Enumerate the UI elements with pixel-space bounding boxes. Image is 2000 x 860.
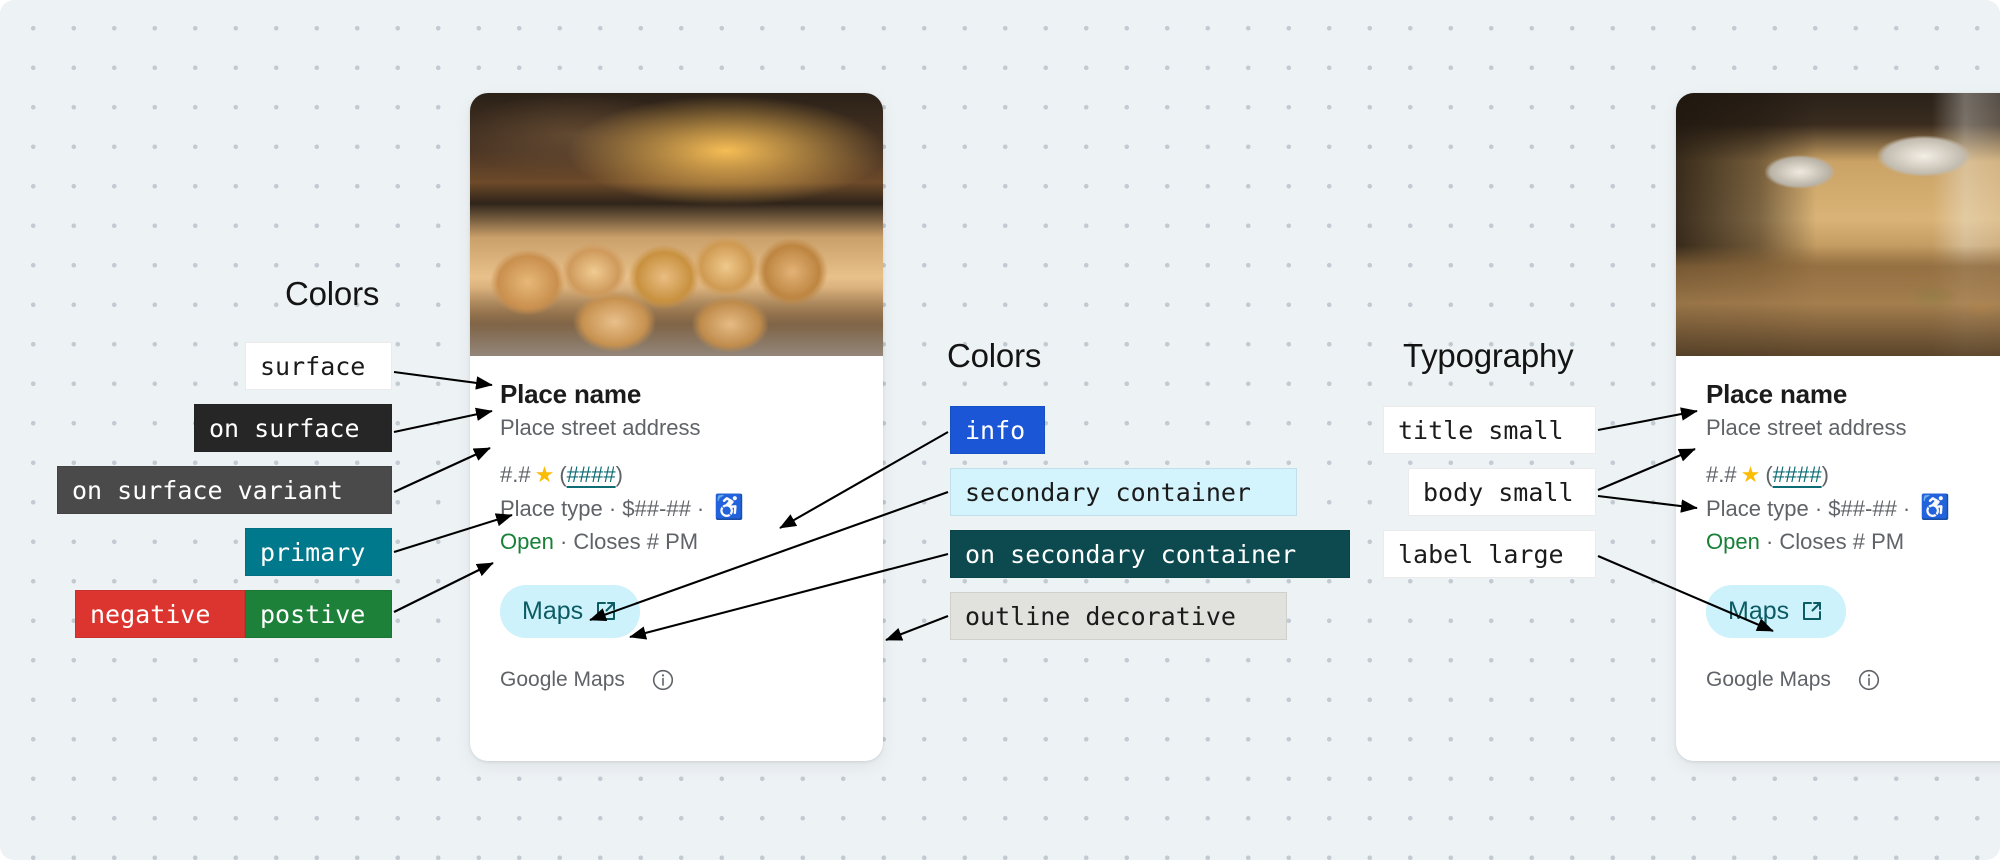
place-rating-row: #.# ★ (####)	[1706, 459, 2000, 491]
dot-separator: ·	[691, 493, 711, 525]
price-range: $##-##	[622, 493, 691, 525]
rating-value: #.#	[1706, 459, 1737, 491]
wheelchair-accessible-icon: ♿	[714, 491, 744, 526]
color-chip-on-surface-variant[interactable]: on surface variant	[57, 466, 392, 514]
footer-attribution: Google Maps	[1706, 668, 1831, 692]
color-chip-on-surface[interactable]: on surface	[194, 404, 392, 452]
design-spec-canvas: Colors Colors Typography surface on surf…	[0, 0, 2000, 860]
heading-colors-left: Colors	[285, 275, 379, 313]
star-icon: ★	[1741, 459, 1761, 491]
color-chip-label: info	[965, 418, 1025, 443]
color-chip-primary[interactable]: primary	[245, 528, 392, 576]
place-hours-row: Open · Closes # PM	[1706, 526, 2000, 558]
color-chip-info[interactable]: info	[950, 406, 1045, 454]
arrow-outline-decorative	[886, 616, 948, 640]
closing-time: Closes # PM	[1779, 526, 1904, 558]
color-chip-label: surface	[260, 354, 365, 379]
dot-separator: ·	[1809, 493, 1829, 525]
info-icon[interactable]	[651, 668, 675, 692]
open-status: Open	[1706, 526, 1760, 558]
color-chip-label: on surface	[209, 416, 360, 441]
place-name: Place name	[500, 378, 853, 411]
place-type-row: Place type · $##-## · ♿	[1706, 491, 2000, 526]
dot-separator: ·	[1760, 526, 1780, 558]
place-meta: #.# ★ (####) Place type · $##-## · ♿ Ope…	[500, 459, 853, 558]
review-count-paren-open: (	[1765, 459, 1772, 491]
color-chip-negative[interactable]: negative	[75, 590, 245, 638]
footer-attribution: Google Maps	[500, 668, 625, 692]
place-type: Place type	[1706, 493, 1809, 525]
color-chip-label: on surface variant	[72, 478, 343, 503]
review-count-link[interactable]: ####	[567, 459, 616, 491]
maps-button-label: Maps	[522, 597, 583, 626]
place-photo-bakery	[470, 93, 883, 356]
review-count-paren-close: )	[1822, 459, 1829, 491]
place-address: Place street address	[1706, 412, 2000, 444]
color-chip-label: primary	[260, 540, 365, 565]
place-rating-row: #.# ★ (####)	[500, 459, 853, 491]
open-status: Open	[500, 526, 554, 558]
dot-separator: ·	[554, 526, 574, 558]
type-chip-label: label large	[1398, 542, 1564, 567]
review-count-link[interactable]: ####	[1773, 459, 1822, 491]
color-chip-on-secondary-container[interactable]: on secondary container	[950, 530, 1350, 578]
closing-time: Closes # PM	[573, 526, 698, 558]
color-chip-label: negative	[90, 602, 210, 627]
place-address: Place street address	[500, 412, 853, 444]
review-count-paren-close: )	[616, 459, 623, 491]
card-footer-left: Google Maps	[470, 638, 883, 718]
type-chip-label: body small	[1423, 480, 1574, 505]
type-chip-label-large[interactable]: label large	[1383, 530, 1596, 578]
color-chip-label: postive	[260, 602, 365, 627]
color-chip-positive[interactable]: postive	[245, 590, 392, 638]
place-card-right: Place name Place street address #.# ★ (#…	[1676, 93, 2000, 761]
type-chip-label: title small	[1398, 418, 1564, 443]
price-range: $##-##	[1828, 493, 1897, 525]
color-chip-outline-decorative[interactable]: outline decorative	[950, 592, 1287, 640]
info-icon[interactable]	[1857, 668, 1881, 692]
color-chip-label: on secondary container	[965, 542, 1296, 567]
color-chip-label: outline decorative	[965, 604, 1236, 629]
wheelchair-accessible-icon: ♿	[1920, 491, 1950, 526]
review-count-paren-open: (	[559, 459, 566, 491]
card-footer-right: Google Maps	[1676, 638, 2000, 718]
place-hours-row: Open · Closes # PM	[500, 526, 853, 558]
place-name: Place name	[1706, 378, 2000, 411]
color-chip-surface[interactable]: surface	[245, 342, 392, 390]
star-icon: ★	[535, 459, 555, 491]
external-link-icon	[1800, 599, 1824, 623]
place-card-left: Place name Place street address #.# ★ (#…	[470, 93, 883, 761]
heading-typography: Typography	[1403, 337, 1573, 375]
color-chip-label: secondary container	[965, 480, 1251, 505]
type-chip-title-small[interactable]: title small	[1383, 406, 1596, 454]
place-meta: #.# ★ (####) Place type · $##-## · ♿ Ope…	[1706, 459, 2000, 558]
place-photo-cafe	[1676, 93, 2000, 356]
place-type: Place type	[500, 493, 603, 525]
maps-button-label: Maps	[1728, 597, 1789, 626]
maps-button[interactable]: Maps	[500, 585, 640, 638]
rating-value: #.#	[500, 459, 531, 491]
dot-separator: ·	[603, 493, 623, 525]
type-chip-body-small[interactable]: body small	[1408, 468, 1596, 516]
maps-button[interactable]: Maps	[1706, 585, 1846, 638]
external-link-icon	[594, 599, 618, 623]
color-chip-secondary-container[interactable]: secondary container	[950, 468, 1297, 516]
dot-separator: ·	[1897, 493, 1917, 525]
heading-colors-mid: Colors	[947, 337, 1041, 375]
place-type-row: Place type · $##-## · ♿	[500, 491, 853, 526]
